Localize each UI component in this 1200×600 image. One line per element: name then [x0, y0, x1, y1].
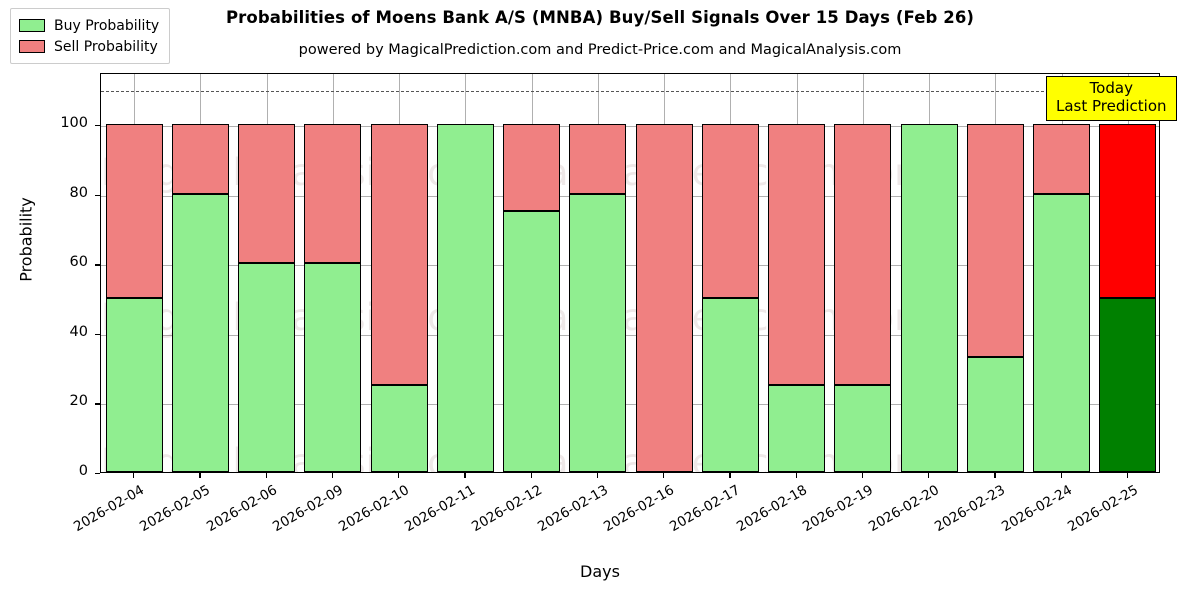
bar-segment-sell[interactable]	[304, 124, 361, 263]
x-tick-mark	[994, 473, 995, 478]
bar-2026-02-25[interactable]	[1099, 73, 1156, 472]
plot-area: MagicalAnalysis.comMagicalPrediction.com…	[100, 73, 1160, 473]
bar-segment-sell[interactable]	[503, 124, 560, 211]
today-label: Today	[1056, 80, 1167, 98]
bar-segment-buy[interactable]	[1099, 298, 1156, 472]
legend-label: Sell Probability	[54, 39, 158, 55]
bar-2026-02-23[interactable]	[967, 73, 1024, 472]
y-tick-label: 40	[44, 324, 88, 340]
bar-segment-buy[interactable]	[1033, 194, 1090, 472]
y-axis-label: Probability	[17, 110, 36, 370]
bar-segment-sell[interactable]	[371, 124, 428, 385]
bar-segment-sell[interactable]	[238, 124, 295, 263]
x-tick-mark	[133, 473, 134, 478]
x-tick-mark	[928, 473, 929, 478]
legend-swatch-icon	[19, 19, 45, 32]
bar-segment-sell[interactable]	[702, 124, 759, 298]
y-tick-label: 0	[44, 463, 88, 479]
bar-2026-02-24[interactable]	[1033, 73, 1090, 472]
bar-segment-sell[interactable]	[172, 124, 229, 194]
y-tick-label: 100	[44, 115, 88, 131]
today-last-prediction-annotation: Today Last Prediction	[1046, 76, 1177, 121]
bar-2026-02-11[interactable]	[437, 73, 494, 472]
bar-segment-sell[interactable]	[1099, 124, 1156, 298]
chart-legend: Buy ProbabilitySell Probability	[10, 8, 170, 64]
bar-2026-02-06[interactable]	[238, 73, 295, 472]
bar-segment-sell[interactable]	[636, 124, 693, 472]
chart-figure: Probabilities of Moens Bank A/S (MNBA) B…	[0, 0, 1200, 600]
bar-segment-buy[interactable]	[371, 385, 428, 472]
bar-segment-buy[interactable]	[503, 211, 560, 472]
bar-segment-buy[interactable]	[172, 194, 229, 472]
bar-segment-buy[interactable]	[901, 124, 958, 472]
x-tick-mark	[531, 473, 532, 478]
bar-segment-sell[interactable]	[967, 124, 1024, 357]
bar-segment-buy[interactable]	[967, 357, 1024, 472]
bar-2026-02-19[interactable]	[834, 73, 891, 472]
chart-subtitle: powered by MagicalPrediction.com and Pre…	[0, 42, 1200, 58]
x-axis-label: Days	[0, 562, 1200, 581]
bar-2026-02-04[interactable]	[106, 73, 163, 472]
legend-item-buy[interactable]: Buy Probability	[19, 15, 159, 36]
y-tick-mark	[95, 334, 100, 335]
bar-2026-02-09[interactable]	[304, 73, 361, 472]
x-tick-mark	[464, 473, 465, 478]
bar-segment-sell[interactable]	[834, 124, 891, 385]
y-tick-mark	[95, 195, 100, 196]
x-tick-mark	[332, 473, 333, 478]
x-tick-mark	[663, 473, 664, 478]
bar-segment-buy[interactable]	[238, 263, 295, 472]
x-tick-mark	[729, 473, 730, 478]
x-tick-mark	[597, 473, 598, 478]
x-tick-mark	[796, 473, 797, 478]
x-tick-mark	[398, 473, 399, 478]
bar-2026-02-20[interactable]	[901, 73, 958, 472]
y-tick-mark	[95, 125, 100, 126]
bar-2026-02-18[interactable]	[768, 73, 825, 472]
bar-2026-02-12[interactable]	[503, 73, 560, 472]
bar-segment-sell[interactable]	[569, 124, 626, 194]
y-tick-label: 20	[44, 393, 88, 409]
bar-segment-sell[interactable]	[768, 124, 825, 385]
legend-label: Buy Probability	[54, 18, 159, 34]
bar-2026-02-10[interactable]	[371, 73, 428, 472]
bar-segment-buy[interactable]	[304, 263, 361, 472]
bar-segment-buy[interactable]	[768, 385, 825, 472]
bar-segment-sell[interactable]	[1033, 124, 1090, 194]
bar-segment-buy[interactable]	[569, 194, 626, 472]
legend-item-sell[interactable]: Sell Probability	[19, 36, 159, 57]
bar-segment-buy[interactable]	[106, 298, 163, 472]
bar-2026-02-16[interactable]	[636, 73, 693, 472]
bar-segment-buy[interactable]	[834, 385, 891, 472]
y-tick-label: 80	[44, 185, 88, 201]
x-tick-mark	[199, 473, 200, 478]
chart-title: Probabilities of Moens Bank A/S (MNBA) B…	[0, 8, 1200, 27]
bar-2026-02-17[interactable]	[702, 73, 759, 472]
x-tick-mark	[1061, 473, 1062, 478]
y-tick-label: 60	[44, 254, 88, 270]
x-tick-mark	[862, 473, 863, 478]
bar-segment-sell[interactable]	[106, 124, 163, 298]
bar-segment-buy[interactable]	[437, 124, 494, 472]
x-tick-mark	[1127, 473, 1128, 478]
y-tick-mark	[95, 264, 100, 265]
y-tick-mark	[95, 473, 100, 474]
bar-segment-buy[interactable]	[702, 298, 759, 472]
legend-swatch-icon	[19, 40, 45, 53]
x-tick-mark	[266, 473, 267, 478]
last-prediction-label: Last Prediction	[1056, 98, 1167, 116]
bar-2026-02-05[interactable]	[172, 73, 229, 472]
y-tick-mark	[95, 403, 100, 404]
bar-2026-02-13[interactable]	[569, 73, 626, 472]
